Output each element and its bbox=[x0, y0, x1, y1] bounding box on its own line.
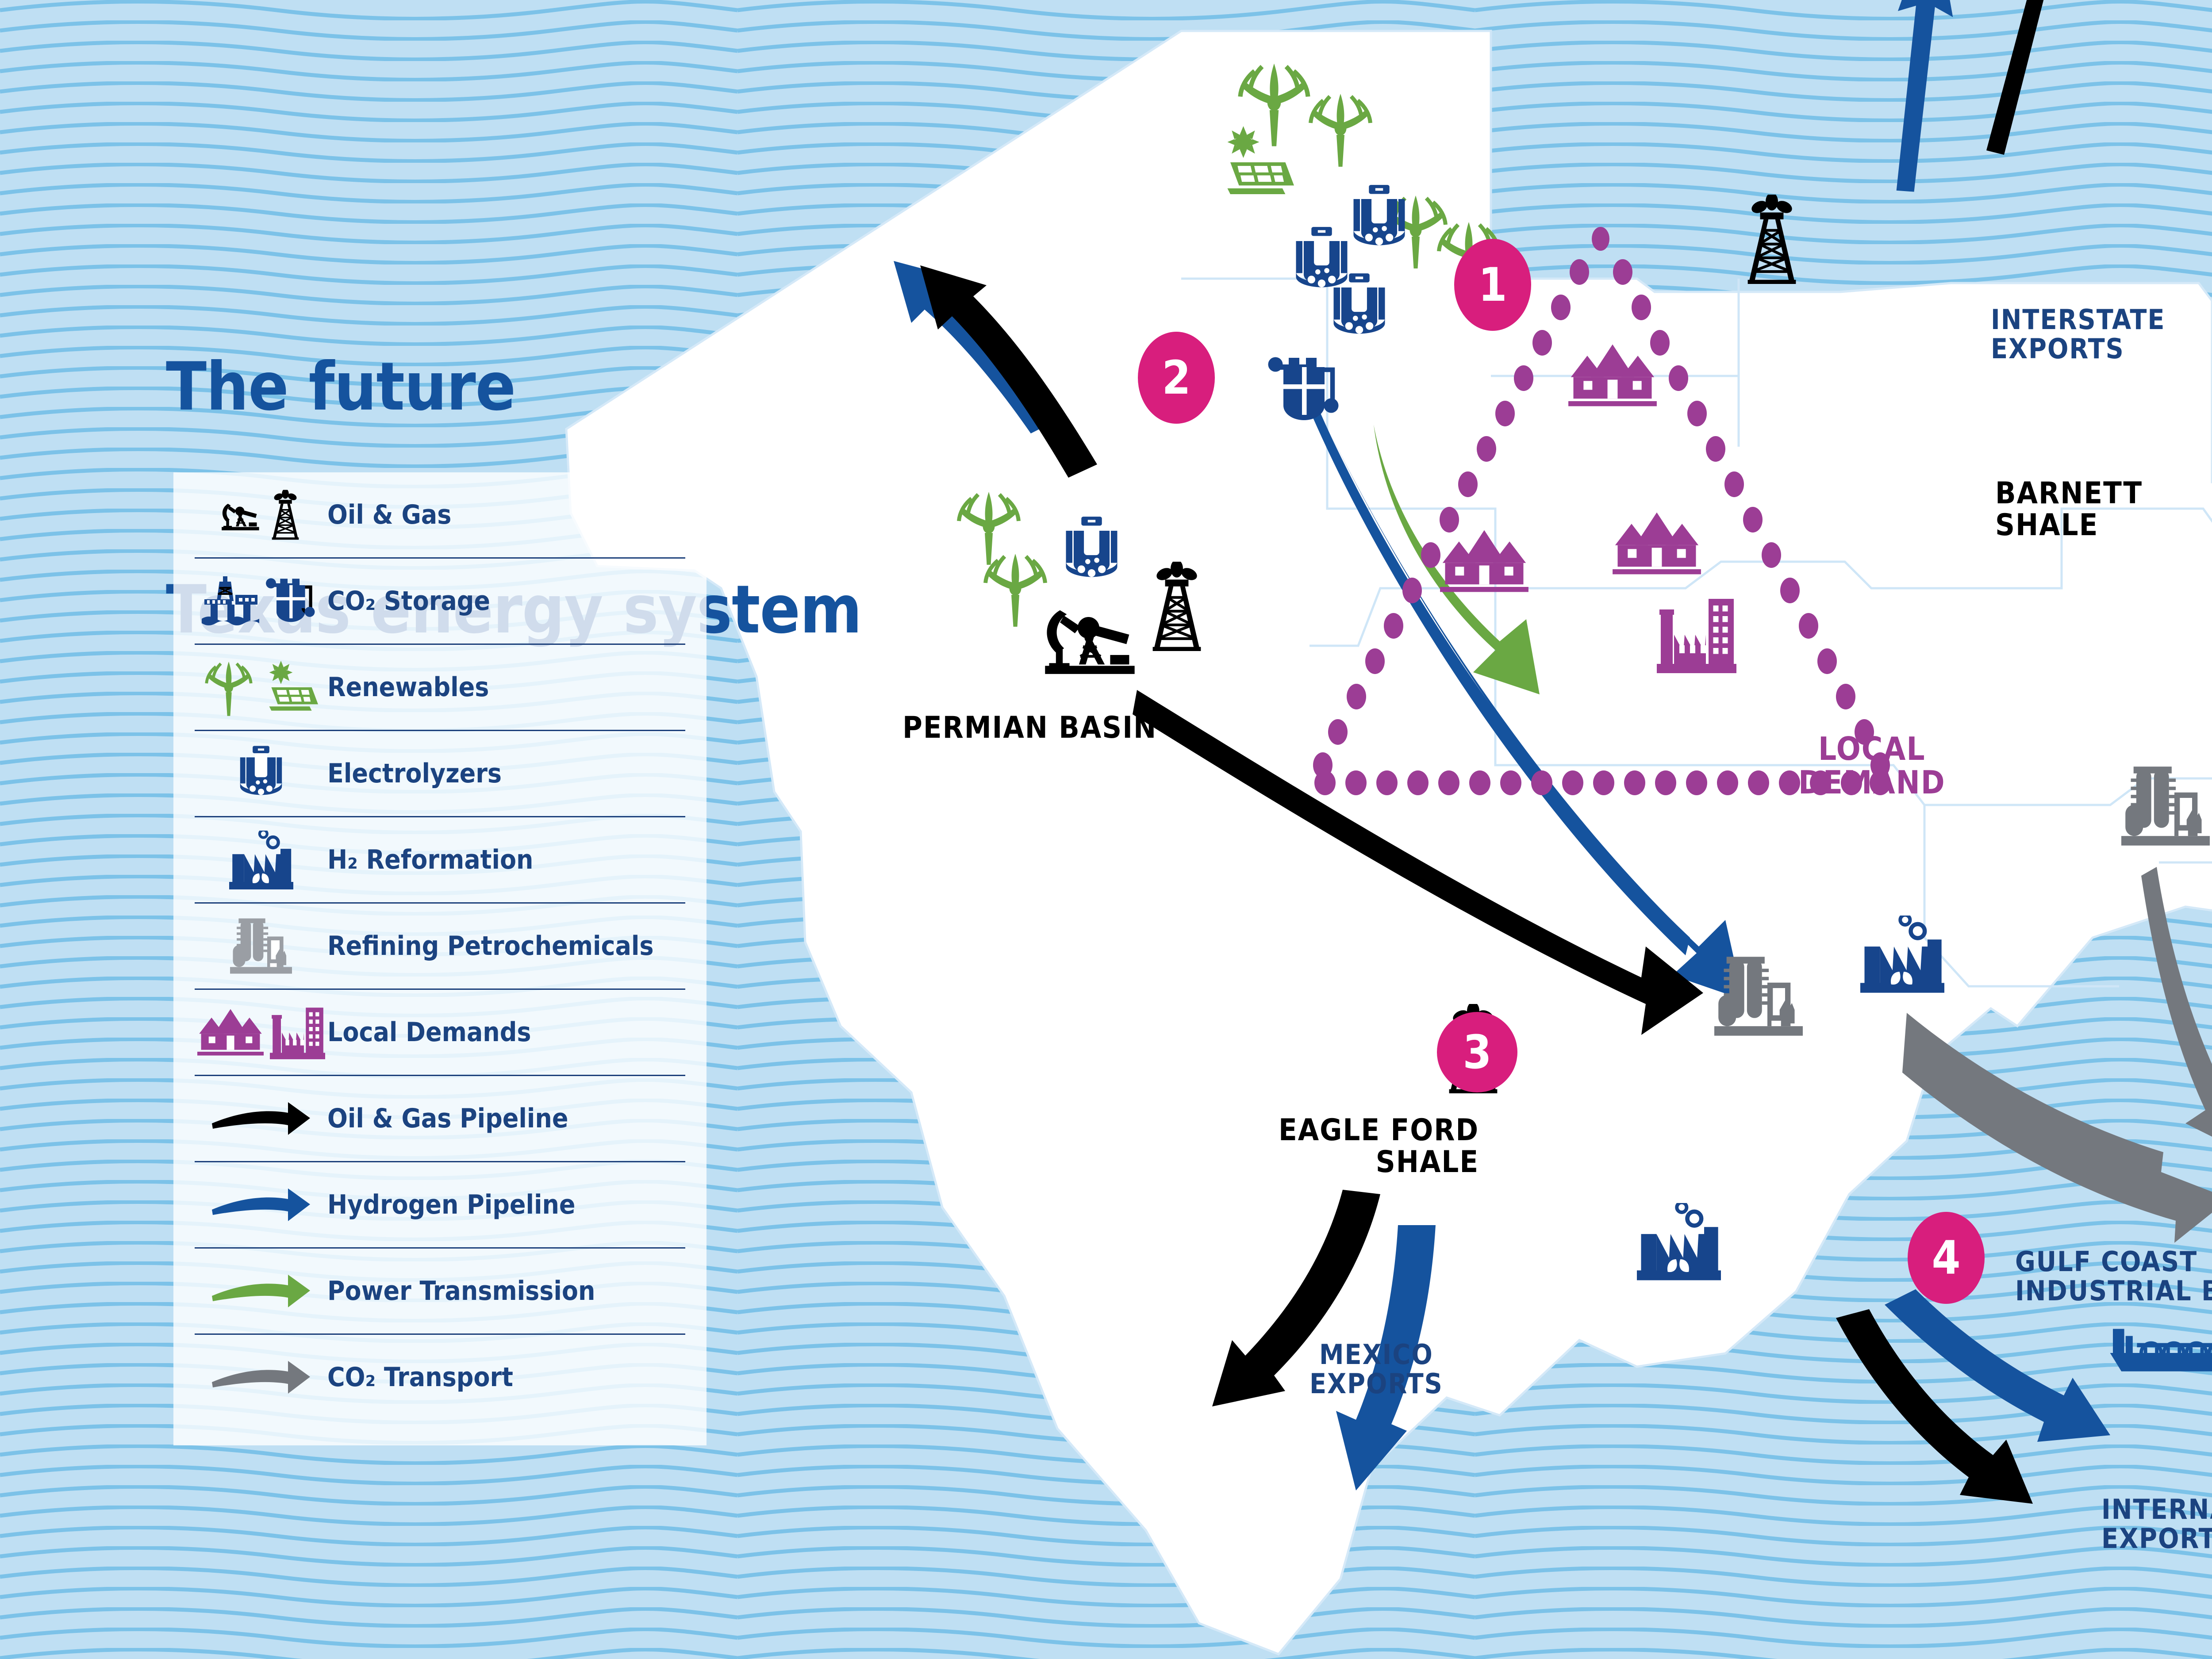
offshore-platform-icon bbox=[202, 575, 259, 628]
title-line-1: The future bbox=[166, 350, 862, 424]
label-gulf-coast-industrial-belt: GULF COAST INDUSTRIAL BELT bbox=[2015, 1247, 2212, 1305]
map-badge-1[interactable]: 1 bbox=[1454, 239, 1531, 331]
curved-arrow-icon bbox=[210, 1100, 312, 1138]
reformation-plant-icon bbox=[229, 831, 293, 889]
legend-label: CO₂ Transport bbox=[327, 1362, 513, 1393]
legend-icon-group bbox=[195, 575, 327, 628]
label-barnett-shale: BARNETT SHALE bbox=[1995, 478, 2143, 541]
refinery-icon bbox=[230, 917, 292, 975]
houses-icon bbox=[197, 1006, 264, 1058]
label-permian-basin: PERMIAN BASIN bbox=[902, 712, 1157, 744]
city-factory-icon bbox=[270, 1005, 325, 1060]
legend-icon-group bbox=[195, 745, 327, 802]
legend-label: CO₂ Storage bbox=[327, 586, 490, 617]
legend-icon-group bbox=[195, 1358, 327, 1396]
legend-icon-group bbox=[195, 1100, 327, 1138]
legend-label: Refining Petrochemicals bbox=[327, 931, 654, 962]
label-interstate-exports: INTERSTATE EXPORTS bbox=[1991, 305, 2165, 363]
curved-arrow-icon bbox=[210, 1272, 312, 1310]
legend-panel: Oil & Gas CO₂ Storage Renewables Electro… bbox=[173, 472, 707, 1445]
derrick-icon bbox=[1748, 192, 1796, 284]
lng-carrier-icon bbox=[2110, 1329, 2212, 1372]
legend-item-refining: Refining Petrochemicals bbox=[195, 904, 685, 990]
legend-icon-group bbox=[195, 486, 327, 544]
legend-label: Hydrogen Pipeline bbox=[327, 1189, 576, 1220]
infographic-canvas: The future Texas energy system Oil & Gas… bbox=[0, 0, 2212, 1659]
legend-item-h2-reformation: H₂ Reformation bbox=[195, 817, 685, 904]
legend-label: Local Demands bbox=[327, 1017, 531, 1048]
legend-label: Power Transmission bbox=[327, 1276, 595, 1307]
legend-item-oil-gas-pipeline: Oil & Gas Pipeline bbox=[195, 1076, 685, 1162]
solar-panel-icon bbox=[260, 661, 318, 714]
map-badge-2[interactable]: 2 bbox=[1138, 332, 1215, 424]
curved-arrow-icon bbox=[210, 1358, 312, 1396]
legend-icon-group bbox=[195, 831, 327, 889]
legend-item-renewables: Renewables bbox=[195, 645, 685, 731]
electrolyzer-icon bbox=[235, 745, 287, 802]
map-badge-4[interactable]: 4 bbox=[1908, 1212, 1985, 1304]
legend-item-co2-storage: CO₂ Storage bbox=[195, 559, 685, 645]
label-international-exports: INTERNATIONAL EXPORTS bbox=[2101, 1495, 2212, 1553]
legend-icon-group bbox=[195, 1186, 327, 1224]
badge-number: 3 bbox=[1463, 1025, 1491, 1079]
map-badge-3[interactable]: 3 bbox=[1437, 1012, 1517, 1092]
label-eagle-ford-shale: EAGLE FORD SHALE bbox=[1279, 1115, 1479, 1178]
legend-icon-group bbox=[195, 1005, 327, 1060]
legend-item-local-demands: Local Demands bbox=[195, 990, 685, 1076]
legend-label: Oil & Gas bbox=[327, 499, 451, 530]
badge-number: 2 bbox=[1162, 351, 1190, 405]
label-local-demand: LOCAL DEMAND bbox=[1798, 732, 1946, 800]
legend-icon-group bbox=[195, 658, 327, 717]
legend-label: Oil & Gas Pipeline bbox=[327, 1103, 568, 1134]
curved-arrow-icon bbox=[210, 1186, 312, 1224]
derrick-icon bbox=[268, 486, 303, 544]
legend-item-hydrogen-pipeline: Hydrogen Pipeline bbox=[195, 1162, 685, 1249]
wind-turbine-icon bbox=[204, 658, 253, 717]
legend-item-electrolyzers: Electrolyzers bbox=[195, 731, 685, 817]
legend-label: Electrolyzers bbox=[327, 758, 502, 789]
legend-icon-group bbox=[195, 1272, 327, 1310]
legend-item-power-transmission: Power Transmission bbox=[195, 1249, 685, 1335]
legend-item-co2-transport: CO₂ Transport bbox=[195, 1335, 685, 1420]
label-mexico-exports: MEXICO EXPORTS bbox=[1310, 1340, 1443, 1398]
gas-cylinders-icon bbox=[265, 576, 321, 627]
badge-number: 4 bbox=[1932, 1231, 1960, 1285]
legend-item-oil-gas: Oil & Gas bbox=[195, 472, 685, 559]
legend-label: H₂ Reformation bbox=[327, 844, 533, 875]
legend-label: Renewables bbox=[327, 672, 489, 703]
legend-icon-group bbox=[195, 917, 327, 975]
badge-number: 1 bbox=[1478, 258, 1507, 312]
